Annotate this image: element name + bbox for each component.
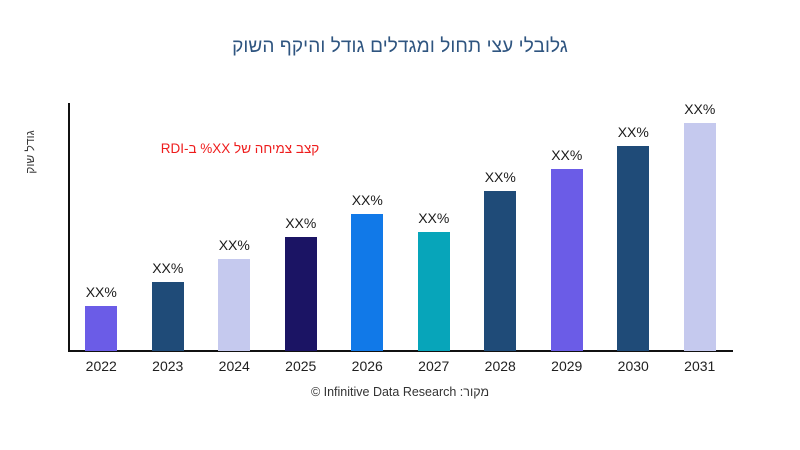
bar-value-label: XX% <box>531 147 603 163</box>
x-axis-tick-label: 2030 <box>597 358 669 374</box>
bar[interactable] <box>684 123 716 351</box>
x-axis-tick-label: 2026 <box>331 358 403 374</box>
x-axis-tick-label: 2025 <box>265 358 337 374</box>
x-axis-tick-label: 2023 <box>132 358 204 374</box>
x-axis-tick-label: 2031 <box>664 358 736 374</box>
bar-group: XX% <box>265 103 337 351</box>
bar-value-label: XX% <box>464 169 536 185</box>
bar-group: XX% <box>664 103 736 351</box>
bar-group: XX% <box>398 103 470 351</box>
bar-group: XX% <box>331 103 403 351</box>
bar-group: XX% <box>65 103 137 351</box>
chart-title: גלובלי עצי תחול ומגדלים גודל והיקף השוק <box>0 36 800 58</box>
bar[interactable] <box>218 259 250 351</box>
x-axis-tick-label: 2028 <box>464 358 536 374</box>
chart-figure: גלובלי עצי תחול ומגדלים גודל והיקף השוק … <box>0 0 800 450</box>
bar-value-label: XX% <box>65 284 137 300</box>
source-note: מקור: Infinitive Data Research © <box>0 385 800 399</box>
bar[interactable] <box>617 146 649 351</box>
bar-group: XX% <box>132 103 204 351</box>
bar-group: XX% <box>464 103 536 351</box>
bar-value-label: XX% <box>198 237 270 253</box>
bar[interactable] <box>551 169 583 351</box>
bar[interactable] <box>85 306 117 351</box>
bar-value-label: XX% <box>398 210 470 226</box>
y-axis-label: גודל שוק <box>19 102 41 202</box>
bar-group: XX% <box>198 103 270 351</box>
bar[interactable] <box>152 282 184 351</box>
bar-value-label: XX% <box>132 260 204 276</box>
x-axis-tick-label: 2029 <box>531 358 603 374</box>
bar-value-label: XX% <box>265 215 337 231</box>
x-axis-tick-label: 2022 <box>65 358 137 374</box>
plot-area: XX%XX%XX%XX%XX%XX%XX%XX%XX%XX% <box>68 103 733 351</box>
bar[interactable] <box>484 191 516 351</box>
bar-group: XX% <box>597 103 669 351</box>
bar-value-label: XX% <box>331 192 403 208</box>
bar-value-label: XX% <box>597 124 669 140</box>
bar-value-label: XX% <box>664 101 736 117</box>
bar-group: XX% <box>531 103 603 351</box>
x-axis-tick-label: 2027 <box>398 358 470 374</box>
bar[interactable] <box>418 232 450 351</box>
x-axis-tick-label: 2024 <box>198 358 270 374</box>
bar[interactable] <box>285 237 317 351</box>
bar[interactable] <box>351 214 383 351</box>
